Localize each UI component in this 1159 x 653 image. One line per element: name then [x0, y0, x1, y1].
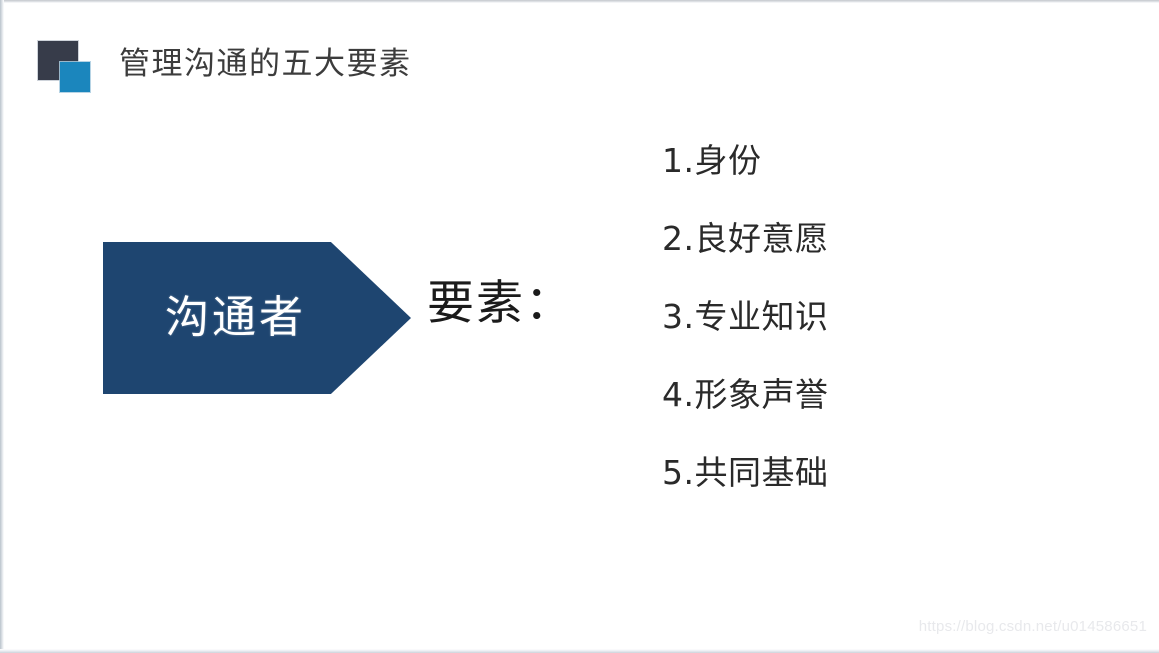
slide-top-edge	[0, 0, 1159, 3]
logo-mark	[38, 41, 92, 93]
elements-label: 要素：	[427, 275, 574, 333]
list-item: 1.身份	[662, 139, 1082, 217]
watermark: https://blog.csdn.net/u014586651	[919, 618, 1147, 636]
list-item: 2.良好意愿	[662, 217, 1082, 295]
list-item: 5.共同基础	[662, 451, 1082, 529]
slide-left-edge	[0, 0, 4, 653]
list-item: 3.专业知识	[662, 295, 1082, 373]
slide-bottom-edge	[0, 649, 1159, 653]
presentation-slide: 管理沟通的五大要素 沟通者 要素： 1.身份 2.良好意愿 3.专业知识 4.形…	[0, 0, 1159, 653]
communicator-arrow-label: 沟通者	[165, 296, 306, 340]
communicator-arrow-shape: 沟通者	[103, 242, 411, 394]
list-item: 4.形象声誉	[662, 373, 1082, 451]
elements-list: 1.身份 2.良好意愿 3.专业知识 4.形象声誉 5.共同基础	[662, 139, 1082, 529]
blue-square-icon	[60, 62, 90, 92]
page-title: 管理沟通的五大要素	[119, 44, 412, 84]
